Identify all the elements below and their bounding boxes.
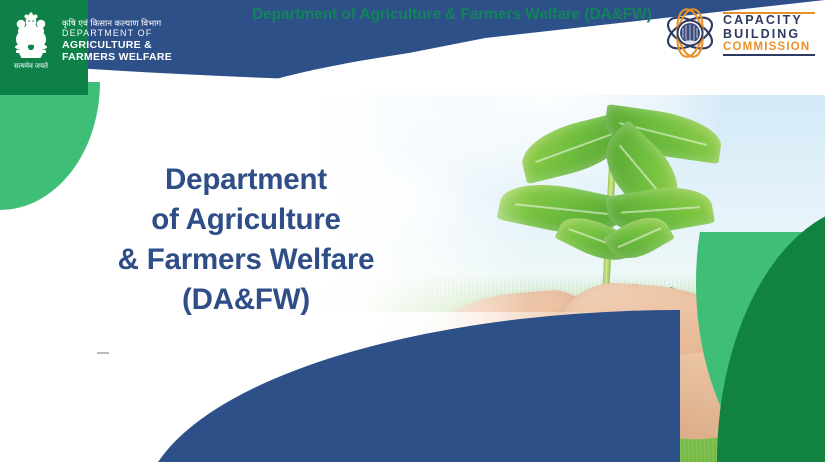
emblem-motto-text: सत्यमेव जयते bbox=[14, 61, 49, 70]
ministry-dept-line: DEPARTMENT OF bbox=[62, 28, 172, 39]
page-title-line-4: (DA&FW) bbox=[96, 280, 396, 320]
title-underline-dash bbox=[97, 352, 109, 354]
cbc-line-commission: COMMISSION bbox=[723, 41, 815, 53]
page-title-line-2: of Agriculture bbox=[96, 200, 396, 240]
ministry-wordmark: कृषि एवं किसान कल्याण विभाग DEPARTMENT O… bbox=[62, 6, 172, 63]
ministry-name-line-1: AGRICULTURE & bbox=[62, 39, 172, 51]
ministry-emblem-block: सत्यमेव जयते कृषि एवं किसान कल्याण विभाग… bbox=[8, 6, 198, 80]
page-title-line-1: Department bbox=[96, 160, 396, 200]
slide-canvas: सत्यमेव जयते कृषि एवं किसान कल्याण विभाग… bbox=[0, 0, 825, 462]
header-title: Department of Agriculture & Farmers Welf… bbox=[252, 6, 652, 24]
page-title-line-3: & Farmers Welfare bbox=[96, 240, 396, 280]
ashoka-lion-capital-emblem-icon: सत्यमेव जयते bbox=[8, 6, 54, 72]
capacity-building-commission-logo: CAPACITY BUILDING COMMISSION bbox=[663, 6, 815, 60]
cbc-line-capacity: CAPACITY bbox=[723, 14, 815, 28]
page-title: Department of Agriculture & Farmers Welf… bbox=[96, 160, 396, 320]
cbc-line-building: BUILDING bbox=[723, 28, 815, 42]
left-green-swoosh bbox=[0, 82, 100, 210]
seedling-plant-icon bbox=[496, 90, 726, 305]
ministry-name-line-2: FARMERS WELFARE bbox=[62, 51, 172, 63]
capacity-building-commission-wordmark: CAPACITY BUILDING COMMISSION bbox=[723, 10, 815, 55]
ministry-hindi-line: कृषि एवं किसान कल्याण विभाग bbox=[62, 18, 172, 28]
capacity-building-commission-emblem-icon bbox=[663, 6, 717, 60]
cbc-rule-bottom bbox=[723, 54, 815, 56]
